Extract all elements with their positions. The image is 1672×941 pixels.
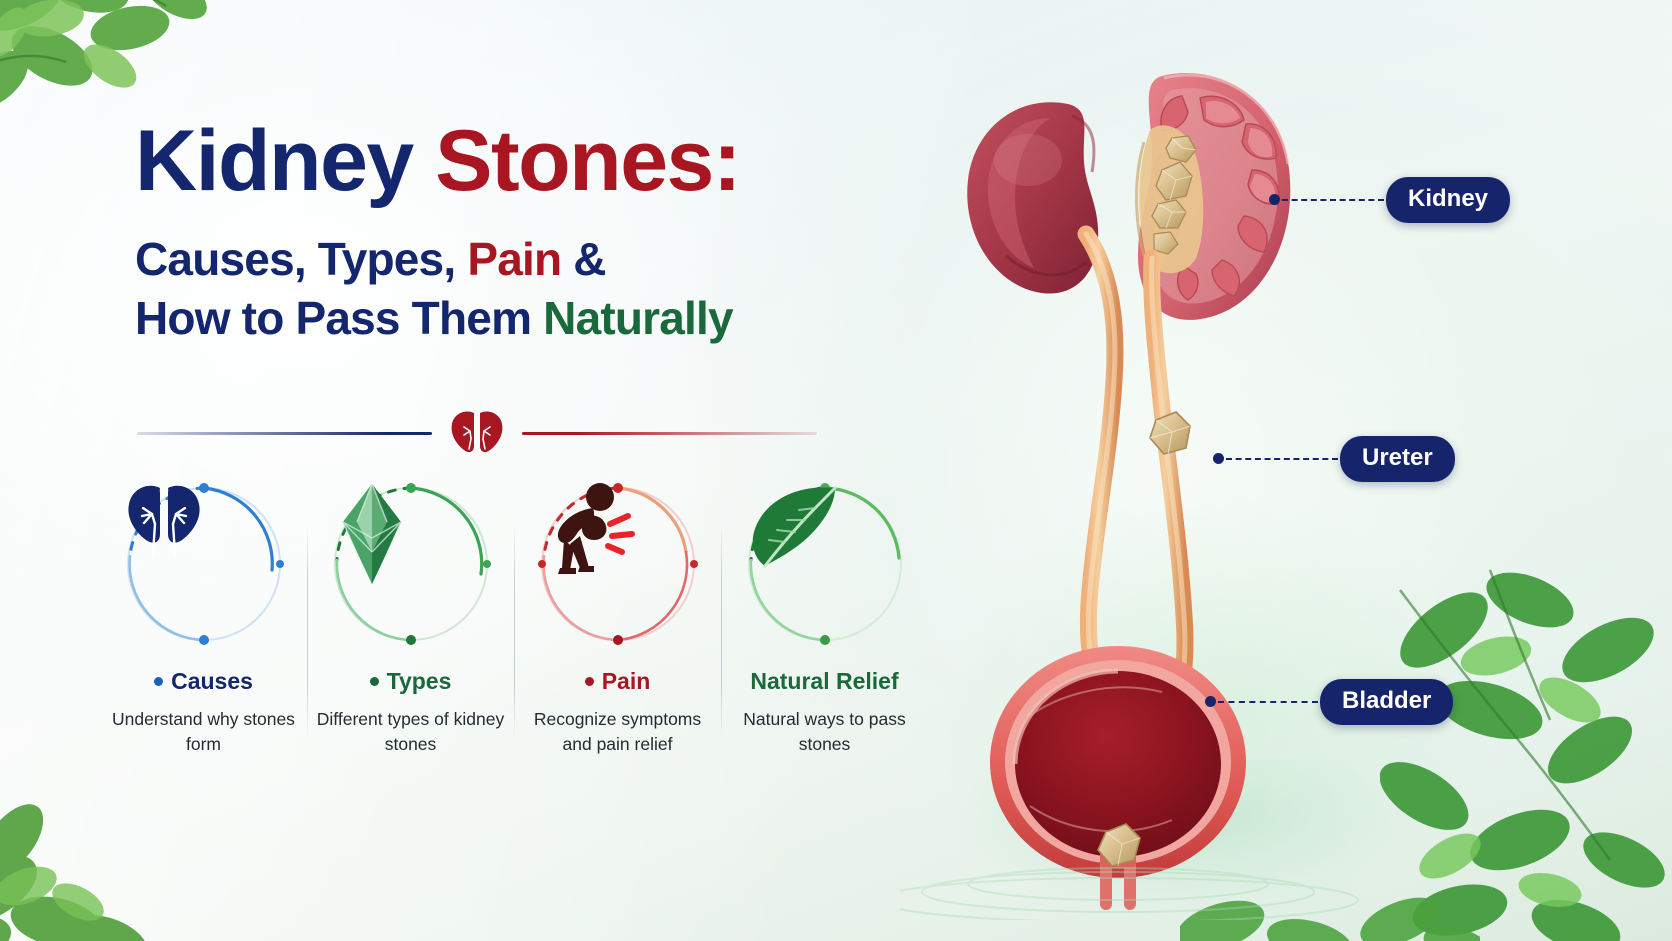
- kidney-anchor-dot: [1269, 194, 1280, 205]
- infographic-canvas: Kidney Stones: Causes, Types, Pain & How…: [0, 0, 1672, 941]
- card-label-types: Types: [370, 668, 452, 695]
- subtitle-1a: Causes, Types,: [135, 233, 467, 285]
- subtitle-2a: How to Pass Them: [135, 292, 543, 344]
- feature-card-natural-relief[interactable]: Natural Relief Natural ways to pass ston…: [721, 482, 928, 757]
- card-desc-types: Different types of kidney stones: [313, 707, 508, 757]
- callout-kidney[interactable]: Kidney: [1269, 177, 1510, 223]
- subtitle-line-2: How to Pass Them Naturally: [135, 289, 935, 348]
- bladder-label-pill[interactable]: Bladder: [1320, 679, 1453, 725]
- natural-relief-ring: [743, 482, 907, 646]
- kidneys-icon: [122, 482, 286, 646]
- ureter-label-pill[interactable]: Ureter: [1340, 436, 1455, 482]
- section-divider: [137, 405, 817, 461]
- left-kidney: [967, 102, 1098, 293]
- page-subtitle: Causes, Types, Pain & How to Pass Them N…: [135, 230, 935, 348]
- card-desc-pain: Recognize symptoms and pain relief: [520, 707, 715, 757]
- kidneys-icon: [448, 409, 506, 457]
- card-label-text: Causes: [171, 668, 253, 695]
- card-label-pain: Pain: [585, 668, 651, 695]
- title-part-stones: Stones:: [435, 113, 740, 209]
- callout-ureter[interactable]: Ureter: [1213, 436, 1455, 482]
- leaf-icon: [743, 482, 907, 646]
- divider-line-left: [137, 432, 432, 435]
- pain-ring: [536, 482, 700, 646]
- card-desc-causes: Understand why stones form: [106, 707, 301, 757]
- kidney-label-pill[interactable]: Kidney: [1386, 177, 1510, 223]
- crystal-gem-icon: [329, 482, 493, 646]
- callout-bladder[interactable]: Bladder: [1205, 679, 1453, 725]
- bladder-anchor-dot: [1205, 696, 1216, 707]
- subtitle-line-1: Causes, Types, Pain &: [135, 230, 935, 289]
- ureter-anchor-dot: [1213, 453, 1224, 464]
- subtitle-1c: &: [561, 233, 605, 285]
- person-in-pain-icon: [536, 482, 700, 646]
- feature-card-row: Causes Understand why stones form: [100, 482, 930, 757]
- types-ring: [329, 482, 493, 646]
- title-part-kidney: Kidney: [135, 113, 435, 209]
- card-desc-natural-relief: Natural ways to pass stones: [727, 707, 922, 757]
- subtitle-1-pain: Pain: [467, 233, 561, 285]
- causes-ring: [122, 482, 286, 646]
- bullet-dot: [370, 677, 379, 686]
- bladder-leader-line: [1218, 701, 1318, 703]
- feature-card-types[interactable]: Types Different types of kidney stones: [307, 482, 514, 757]
- card-label-text: Natural Relief: [750, 668, 898, 695]
- card-label-natural-relief: Natural Relief: [750, 668, 898, 695]
- bullet-dot: [154, 677, 163, 686]
- bullet-dot: [585, 677, 594, 686]
- title-block: Kidney Stones: Causes, Types, Pain & How…: [135, 118, 935, 348]
- feature-card-pain[interactable]: Pain Recognize symptoms and pain relief: [514, 482, 721, 757]
- card-label-text: Pain: [602, 668, 651, 695]
- divider-line-right: [522, 432, 817, 435]
- card-label-causes: Causes: [154, 668, 253, 695]
- page-title: Kidney Stones:: [135, 118, 935, 204]
- card-label-text: Types: [387, 668, 452, 695]
- feature-card-causes[interactable]: Causes Understand why stones form: [100, 482, 307, 757]
- ureter-leader-line: [1226, 458, 1338, 460]
- subtitle-2-naturally: Naturally: [543, 292, 733, 344]
- kidney-leader-line: [1282, 199, 1384, 201]
